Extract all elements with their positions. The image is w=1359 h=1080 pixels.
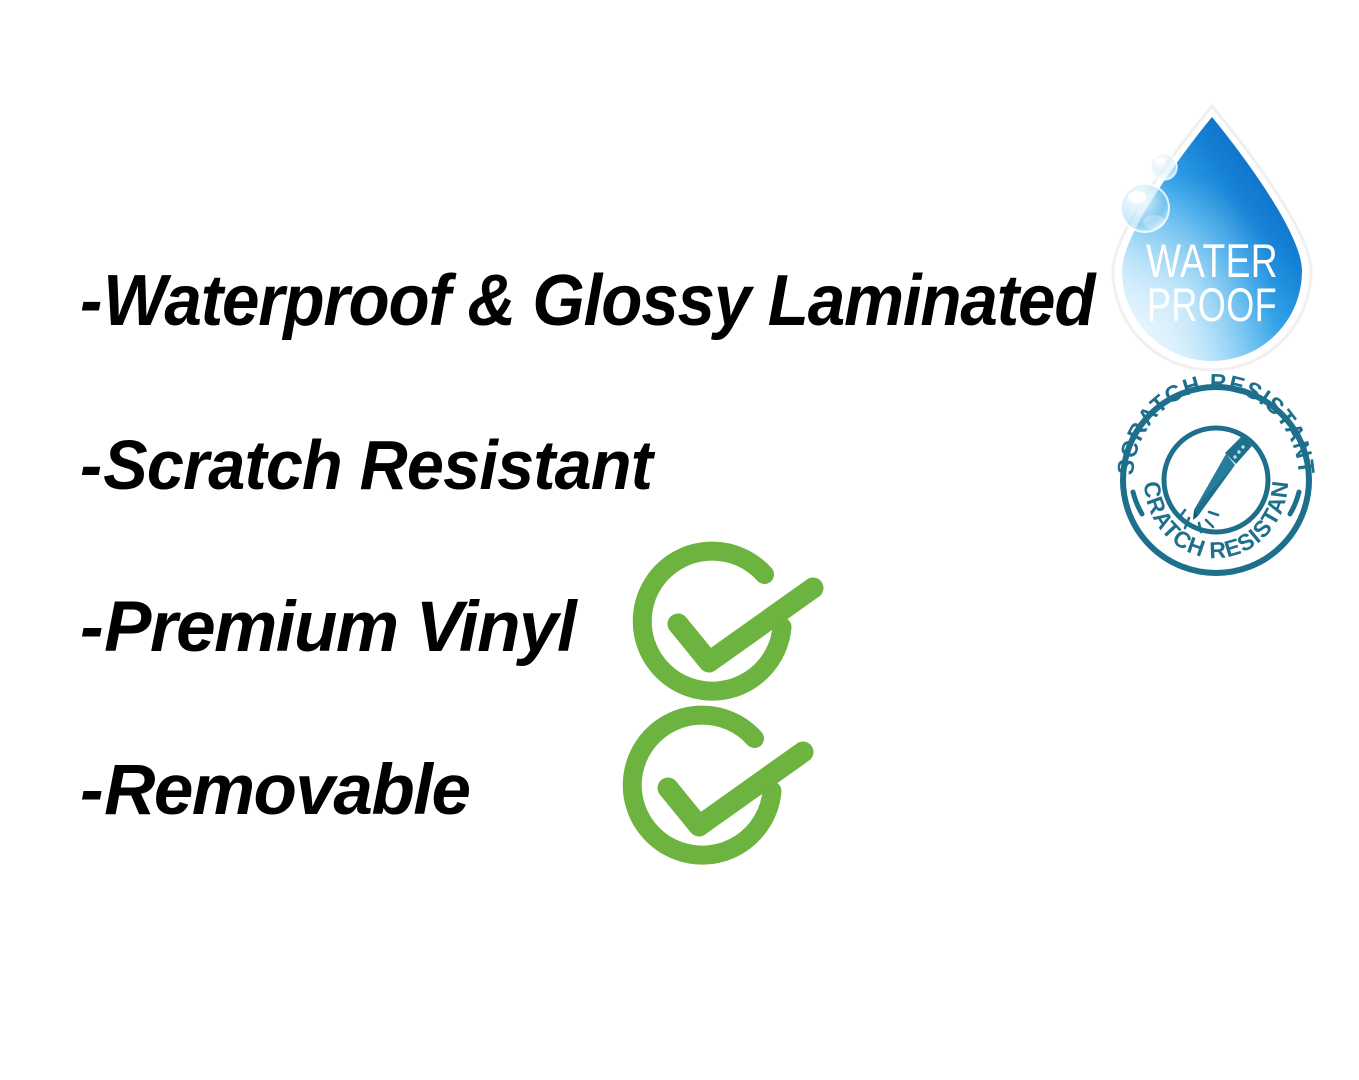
feature-bullet-dash: -: [80, 430, 101, 500]
feature-label: Scratch Resistant: [103, 426, 652, 504]
check-tick: [668, 752, 803, 826]
feature-bullet-dash: -: [80, 265, 101, 337]
water-bubble-small: [1151, 154, 1177, 180]
feature-bullet-dash: -: [80, 592, 102, 663]
feature-item-premium-vinyl: -Premium Vinyl: [80, 592, 575, 663]
waterproof-droplet-badge: WATER PROOF: [1097, 103, 1327, 361]
feature-item-waterproof-glossy-laminated: -Waterproof & Glossy Laminated: [80, 265, 1094, 337]
feature-label: Removable: [104, 751, 469, 830]
check-tick: [678, 588, 813, 662]
stamp-top-text: SCRATCH RESISTANT: [1112, 369, 1320, 477]
knife-icon: [1179, 436, 1252, 532]
check-mark-premium-vinyl: [636, 552, 841, 712]
product-features-graphic: -Waterproof & Glossy Laminated -Scratch …: [0, 0, 1359, 1080]
feature-label: Waterproof & Glossy Laminated: [103, 261, 1094, 341]
waterproof-line-2: PROOF: [1147, 278, 1277, 331]
check-mark-removable: [626, 716, 831, 876]
feature-item-scratch-resistant: -Scratch Resistant: [80, 430, 652, 500]
feature-item-removable: -Removable: [80, 755, 469, 826]
scratch-resistant-stamp-badge: SCRATCH RESISTANT SCRATCH RESISTANT: [1105, 380, 1327, 570]
feature-bullet-dash: -: [80, 755, 102, 826]
feature-label: Premium Vinyl: [104, 588, 575, 667]
